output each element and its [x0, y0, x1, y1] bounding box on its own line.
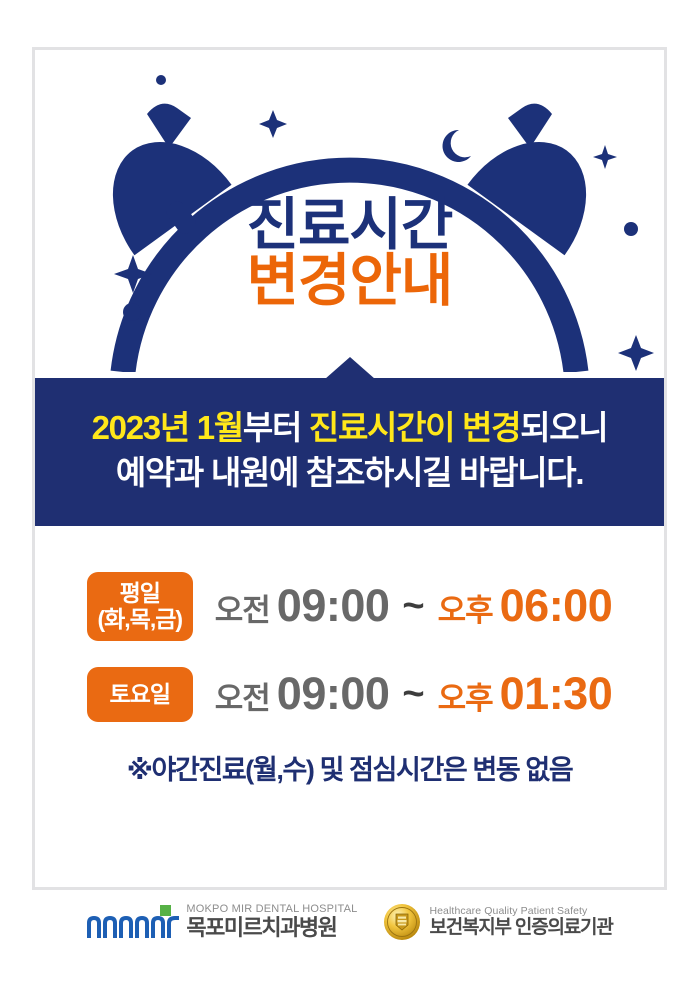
- hospital-logo-korean: 목포미르치과병원: [186, 916, 357, 941]
- hours-row-weekday: 평일 (화,목,금) 오전 09:00 ~ 오후 06:00: [35, 572, 664, 641]
- gold-certification-seal-icon: [383, 903, 421, 941]
- announcement-banner: 2023년 1월부터 진료시간이 변경되오니 예약과 내원에 참조하시길 바랍니…: [35, 378, 664, 526]
- day-badge-weekday-line2: (화,목,금): [91, 606, 189, 632]
- banner-text-b: 되오니: [520, 409, 607, 446]
- hero-section: 진료시간 변경안내: [35, 50, 664, 372]
- banner-line-1: 2023년 1월부터 진료시간이 변경되오니: [45, 406, 654, 451]
- hours-value-saturday: 오전 09:00 ~ 오후 01:30: [215, 668, 612, 720]
- saturday-close-ampm: 오후: [438, 673, 493, 718]
- hours-row-saturday: 토요일 오전 09:00 ~ 오후 01:30: [35, 667, 664, 722]
- weekday-open-time: 09:00: [277, 580, 390, 632]
- banner-arrow-icon: [325, 357, 375, 379]
- hours-footnote: ※야간진료(월,수) 및 점심시간은 변동 없음: [35, 748, 664, 787]
- poster-panel: 진료시간 변경안내 2023년 1월부터 진료시간이 변경되오니 예약과 내원에…: [32, 47, 667, 890]
- hours-section: 평일 (화,목,금) 오전 09:00 ~ 오후 06:00 토요일 오전 09…: [35, 526, 664, 787]
- hospital-logo: MOKPO MIR DENTAL HOSPITAL 목포미르치과병원: [87, 903, 357, 941]
- crescent-moon-icon: [443, 130, 471, 162]
- banner-text-a: 부터: [243, 409, 309, 446]
- banner-line-2: 예약과 내원에 참조하시길 바랍니다.: [45, 451, 654, 496]
- footer-logos: MOKPO MIR DENTAL HOSPITAL 목포미르치과병원 Healt…: [0, 903, 700, 941]
- weekday-separator: ~: [402, 585, 424, 628]
- certification-english: Healthcare Quality Patient Safety: [429, 905, 612, 918]
- title-line-2: 변경안내: [35, 254, 664, 310]
- banner-date-highlight: 2023년 1월: [92, 409, 243, 446]
- mir-comb-logo-icon: [87, 905, 179, 939]
- saturday-open-ampm: 오전: [215, 673, 270, 718]
- saturday-open-time: 09:00: [277, 668, 390, 720]
- day-badge-weekday-line1: 평일: [91, 580, 189, 606]
- day-badge-saturday: 토요일: [87, 667, 193, 722]
- day-badge-saturday-line1: 토요일: [91, 681, 189, 707]
- weekday-close-ampm: 오후: [438, 585, 493, 630]
- title-line-1: 진료시간: [35, 198, 664, 254]
- weekday-open-ampm: 오전: [215, 585, 270, 630]
- day-badge-weekday: 평일 (화,목,금): [87, 572, 193, 641]
- weekday-close-time: 06:00: [500, 580, 613, 632]
- banner-change-highlight: 진료시간이 변경: [309, 409, 520, 446]
- certification-korean: 보건복지부 인증의료기관: [429, 917, 612, 939]
- poster-title: 진료시간 변경안내: [35, 198, 664, 310]
- saturday-close-time: 01:30: [500, 668, 613, 720]
- certification-logo: Healthcare Quality Patient Safety 보건복지부 …: [383, 903, 612, 941]
- hours-value-weekday: 오전 09:00 ~ 오후 06:00: [215, 580, 612, 632]
- saturday-separator: ~: [402, 673, 424, 716]
